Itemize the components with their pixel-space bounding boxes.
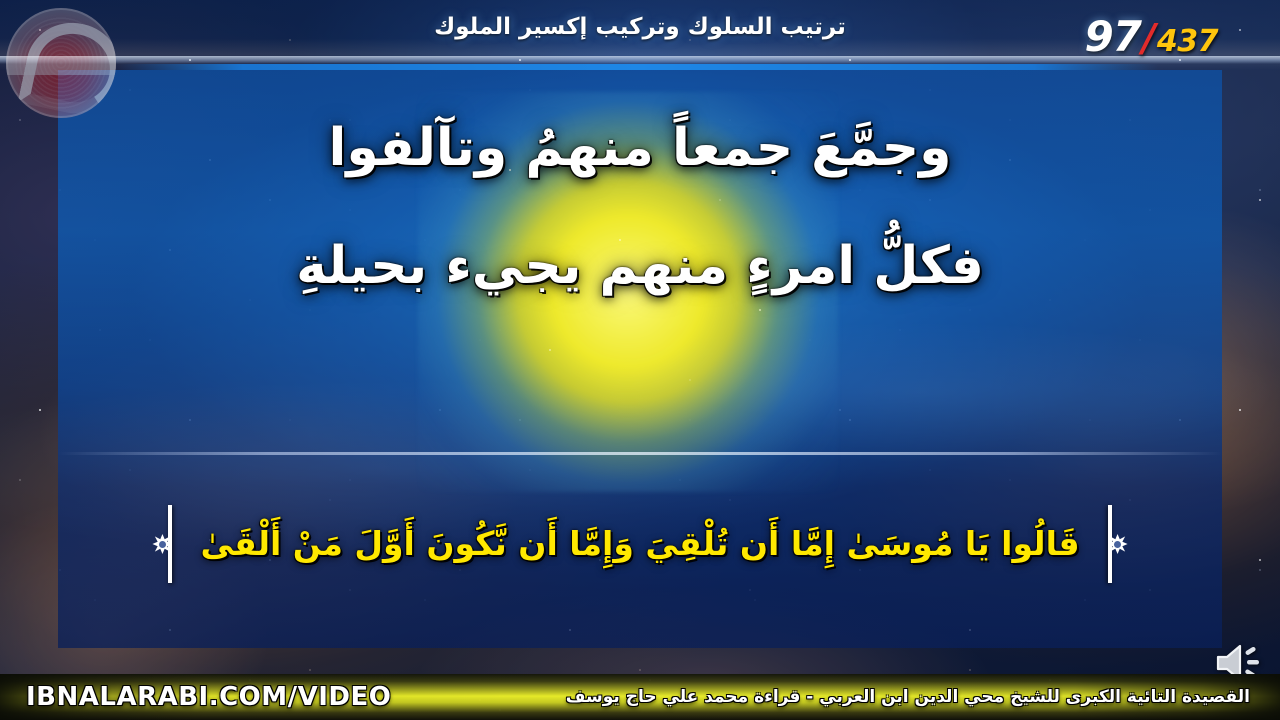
footer-bar: IBNALARABI.COM/VIDEO القصيدة التائية الك… [0, 674, 1280, 720]
logo-band [6, 56, 116, 75]
slide-counter: 97 / 437 [1085, 16, 1218, 58]
header-underline [118, 64, 1158, 70]
counter-separator: / [1142, 19, 1156, 57]
poem-line-1: وجمَّعَ جمعاً منهمُ وتآلفوا [58, 112, 1222, 186]
ibn-arabi-logo-icon [6, 8, 116, 118]
ornament-star [1108, 534, 1128, 554]
verse-open-ornament-icon [1098, 505, 1138, 583]
panel-divider [58, 452, 1222, 455]
poem-line-2: فكلُّ امرءٍ منهم يجيء بحيلةِ [58, 230, 1222, 304]
poem-block: وجمَّعَ جمعاً منهمُ وتآلفوا فكلُّ امرءٍ … [58, 112, 1222, 348]
site-url-label[interactable]: IBNALARABI.COM/VIDEO [26, 682, 391, 712]
quran-verse-text: قَالُوا يَا مُوسَىٰ إِمَّا أَن تُلْقِيَ … [200, 519, 1079, 569]
counter-current: 97 [1085, 16, 1141, 58]
quran-verse-block: قَالُوا يَا مُوسَىٰ إِمَّا أَن تُلْقِيَ … [58, 505, 1222, 583]
ornament-star [152, 534, 172, 554]
credit-label: القصيدة التائية الكبرى للشيخ محي الدين ا… [566, 687, 1250, 707]
video-frame: ترتيب السلوك وتركيب إكسير الملوك 97 / 43… [0, 0, 1280, 720]
verse-close-ornament-icon [142, 505, 182, 583]
counter-total: 437 [1157, 27, 1218, 57]
